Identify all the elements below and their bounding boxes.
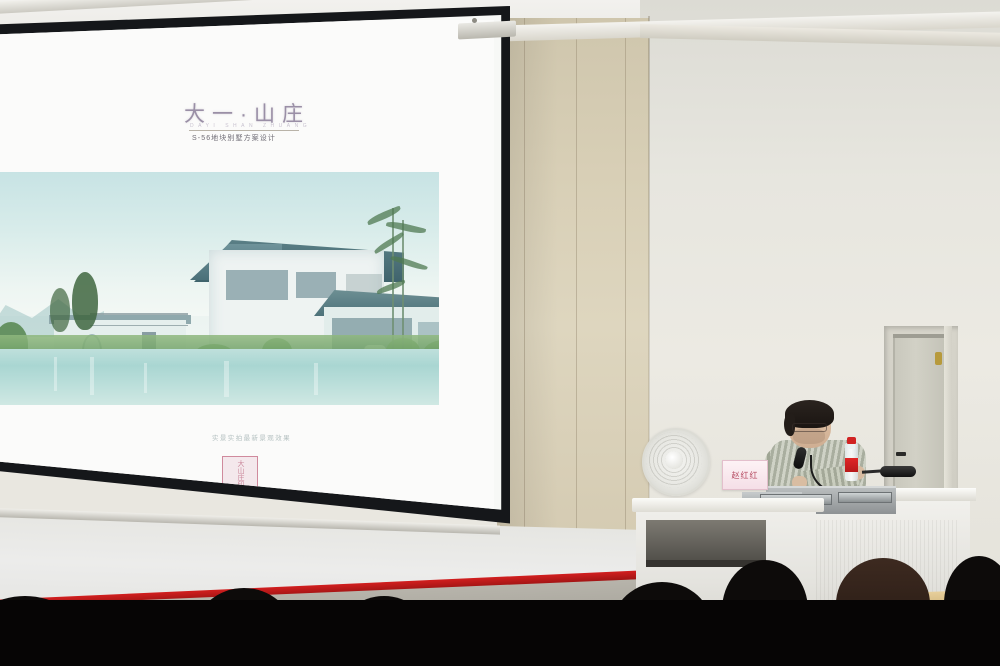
door-lock-icon [935, 352, 942, 365]
rendering-reflection-2 [90, 357, 94, 395]
rendering-terrace-railing [90, 313, 188, 326]
lecture-hall-photo: 大一·山庄 DAYI SHAN ZHUANG S-56地块别墅方案设计 [0, 0, 1000, 666]
wall-corner [648, 16, 650, 581]
slide-title-latin: DAYI SHAN ZHUANG [190, 123, 311, 129]
slide-subtitle: S-56地块别墅方案设计 [192, 133, 276, 143]
presentation-slide: 大一·山庄 DAYI SHAN ZHUANG S-56地块别墅方案设计 [0, 6, 510, 534]
speaker-name-text: 赵红红 [732, 470, 759, 481]
wood-panel-wall [497, 18, 649, 578]
screen-wall-mount [458, 20, 516, 39]
villa-rendering-image [0, 172, 439, 405]
rendering-reflection-4 [224, 361, 229, 397]
microphone-icon[interactable] [880, 466, 916, 477]
foreground-shadow [0, 600, 1000, 666]
rendering-glass-upper2 [296, 272, 336, 298]
slide-caption: 实景实拍最新景观效果 [212, 432, 291, 442]
rendering-pond [0, 349, 439, 405]
water-bottle-label [845, 458, 858, 472]
rendering-reflection-5 [314, 363, 318, 395]
glasses-icon [792, 423, 827, 432]
seal-text: 大山庄印 [236, 460, 244, 488]
screen-mount-bolt [472, 18, 477, 23]
rendering-reflection-1 [54, 357, 57, 391]
speaker-name-card: 赵红红 [722, 460, 768, 490]
projection-screen-surface: 大一·山庄 DAYI SHAN ZHUANG S-56地块别墅方案设计 [0, 6, 510, 534]
water-bottle-cap [847, 437, 856, 444]
rendering-reflection-3 [144, 363, 147, 393]
rendering-conifer [72, 272, 98, 330]
rendering-glass-upper [226, 270, 288, 300]
slide-canvas: 大一·山庄 DAYI SHAN ZHUANG S-56地块别墅方案设计 [0, 20, 494, 520]
rendering-conifer-2 [50, 288, 70, 332]
podium-left-opening [646, 520, 766, 564]
slide-date: 二零壹五年一月 [216, 507, 273, 516]
door-top-gap [893, 334, 945, 338]
slide-divider-rule [189, 130, 299, 131]
door-handle-icon[interactable] [896, 452, 906, 456]
podium-console-panel-2[interactable] [838, 492, 892, 503]
fan-hub [665, 451, 683, 469]
podium-left-top [632, 498, 824, 512]
